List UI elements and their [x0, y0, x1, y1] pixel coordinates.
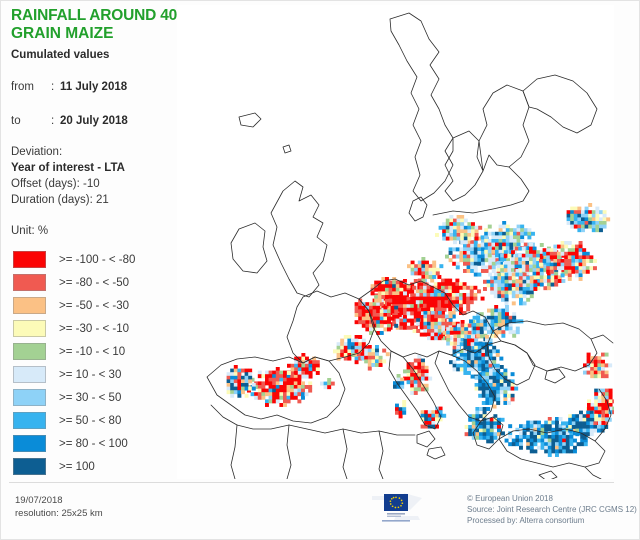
legend-swatch — [13, 412, 46, 429]
legend-swatch — [13, 320, 46, 337]
legend-label: >= 10 - < 30 — [59, 369, 121, 381]
legend-label: >= 100 — [59, 461, 95, 473]
period-to-value: 20 July 2018 — [60, 114, 128, 129]
legend-label: >= 50 - < 80 — [59, 415, 121, 427]
map-page: RAINFALL AROUND 40% PROGRESS GRAIN MAIZE… — [0, 0, 640, 540]
footer-right: © European Union 2018 Source: Joint Rese… — [467, 493, 637, 526]
period-to-colon: : — [51, 114, 60, 129]
copyright-text: © European Union 2018 — [467, 493, 637, 504]
period-from-colon: : — [51, 80, 60, 95]
period-to-label: to — [11, 114, 51, 129]
map-resolution: resolution: 25x25 km — [15, 508, 103, 521]
legend-label: >= -100 - < -80 — [59, 254, 135, 266]
period-from-label: from — [11, 80, 51, 95]
legend-swatch — [13, 389, 46, 406]
footer-left: 19/07/2018 resolution: 25x25 km — [15, 495, 103, 520]
european-commission-logo — [370, 490, 428, 528]
period-from-value: 11 July 2018 — [60, 80, 127, 95]
legend-swatch — [13, 366, 46, 383]
map-canvas[interactable] — [177, 5, 614, 479]
legend-label: >= -10 - < 10 — [59, 346, 125, 358]
legend-label: >= 80 - < 100 — [59, 438, 128, 450]
legend-swatch — [13, 251, 46, 268]
source-text: Source: Joint Research Centre (JRC CGMS … — [467, 504, 637, 515]
legend-label: >= -50 - < -30 — [59, 300, 129, 312]
legend-label: >= -30 - < -10 — [59, 323, 129, 335]
legend-swatch — [13, 297, 46, 314]
legend-swatch — [13, 458, 46, 475]
map-date: 19/07/2018 — [15, 495, 103, 508]
legend-label: >= 30 - < 50 — [59, 392, 121, 404]
footer-divider — [9, 482, 614, 483]
legend-swatch — [13, 274, 46, 291]
processed-by-text: Processed by: Alterra consortium — [467, 515, 637, 526]
legend-swatch — [13, 435, 46, 452]
legend-label: >= -80 - < -50 — [59, 277, 129, 289]
legend-swatch — [13, 343, 46, 360]
